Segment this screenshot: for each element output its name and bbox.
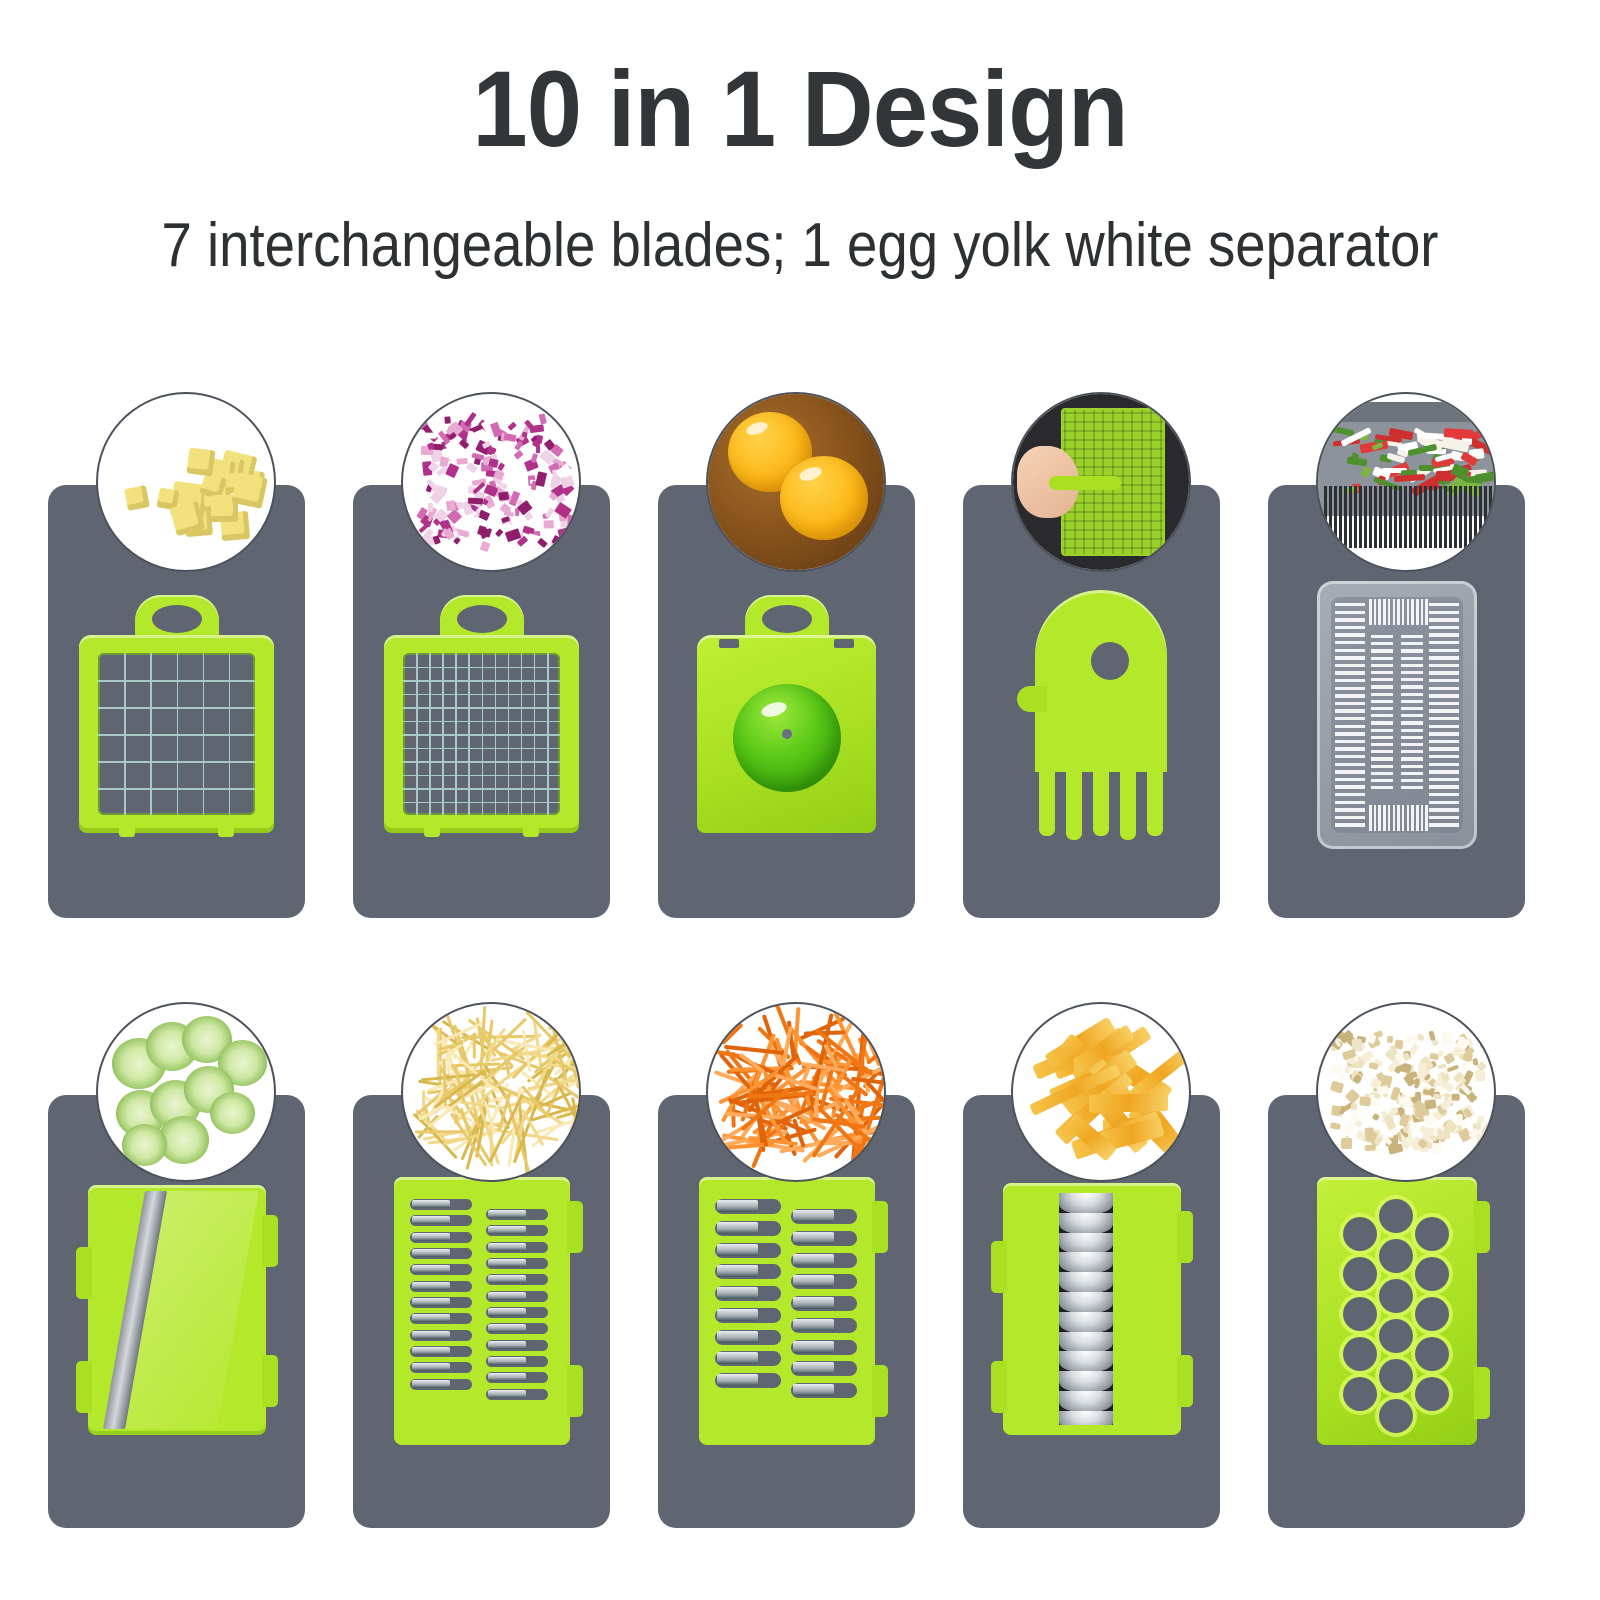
julienne-tooth-c1-4 bbox=[793, 1297, 834, 1309]
slot-mid-l-7 bbox=[1371, 685, 1393, 688]
slot-mid-r-9 bbox=[1401, 700, 1423, 703]
slot-right-23 bbox=[1429, 778, 1459, 781]
slot-bottom-6 bbox=[1397, 805, 1400, 831]
julienne-tooth-c1-0 bbox=[793, 1210, 834, 1222]
slot-mid-r-8 bbox=[1401, 693, 1423, 696]
bubble-minced-garlic bbox=[1316, 1002, 1496, 1182]
slot-bottom-3 bbox=[1383, 805, 1386, 831]
slot-top-11 bbox=[1421, 599, 1424, 625]
slot-mid-l-9 bbox=[1371, 700, 1393, 703]
comb-line-24 bbox=[1444, 486, 1447, 548]
ridge-v-8 bbox=[1141, 410, 1143, 554]
onion-dice-74 bbox=[544, 507, 554, 519]
slot-bottom-9 bbox=[1411, 805, 1414, 831]
onion-dice-40 bbox=[478, 509, 491, 520]
wave-crinkle-cutter-blade bbox=[1003, 1183, 1181, 1435]
comb-line-23 bbox=[1439, 486, 1442, 548]
veg-strip-66 bbox=[1444, 428, 1474, 439]
slot-right-18 bbox=[1429, 740, 1459, 743]
julienne-tooth-c1-8 bbox=[793, 1384, 834, 1396]
comb-hole bbox=[1091, 642, 1129, 680]
slot-mid-r-6 bbox=[1401, 678, 1423, 681]
slot-mid-l-18 bbox=[1371, 765, 1393, 768]
slot-mid-r-7 bbox=[1401, 685, 1423, 688]
gridline-h bbox=[403, 802, 560, 804]
garlic-bit-62 bbox=[1440, 1030, 1453, 1046]
slot-left-5 bbox=[1335, 641, 1365, 644]
julienne-tooth-c0-4 bbox=[717, 1287, 758, 1299]
julienne-tooth-c1-2 bbox=[488, 1243, 526, 1251]
garlic-bit-180 bbox=[1424, 1099, 1436, 1109]
slot-bottom-8 bbox=[1407, 805, 1410, 831]
slot-right-10 bbox=[1429, 679, 1459, 682]
gridline-v bbox=[521, 653, 523, 815]
grater-hole-1 bbox=[1343, 1217, 1377, 1251]
wave-tooth-5 bbox=[1059, 1292, 1113, 1314]
wave-tooth-6 bbox=[1059, 1312, 1113, 1334]
slot-mid-l-17 bbox=[1371, 757, 1393, 760]
comb-line-29 bbox=[1469, 486, 1472, 548]
gridline-v bbox=[229, 653, 231, 815]
garlic-bit-179 bbox=[1457, 1113, 1464, 1123]
julienne-tooth-c0-5 bbox=[717, 1309, 758, 1321]
crinkle-steel-blade bbox=[1059, 1193, 1113, 1425]
slot-mid-r-11 bbox=[1401, 714, 1423, 717]
onion-dice-14 bbox=[514, 450, 523, 459]
comb-line-9 bbox=[1369, 486, 1372, 548]
grater-hole-6 bbox=[1379, 1199, 1413, 1233]
fine-julienne-blade bbox=[394, 1177, 570, 1445]
garlic-bit-168 bbox=[1480, 1034, 1487, 1047]
garlic-bit-197 bbox=[1341, 1138, 1352, 1149]
onion-dice-16 bbox=[480, 541, 490, 552]
julienne-tooth-c0-6 bbox=[412, 1298, 450, 1306]
garlic-bit-231 bbox=[1388, 1143, 1403, 1154]
onion-dice-108 bbox=[445, 500, 455, 511]
bubble-potato-julienne bbox=[401, 1002, 581, 1182]
slot-mid-l-1 bbox=[1371, 642, 1393, 645]
slot-bottom-5 bbox=[1393, 805, 1396, 831]
ridge-v-7 bbox=[1131, 410, 1133, 554]
garlic-bit-229 bbox=[1438, 1050, 1444, 1056]
comb-prong-2 bbox=[1066, 762, 1082, 840]
tray-rim-back bbox=[1318, 402, 1494, 422]
comb-line-1 bbox=[1329, 486, 1332, 548]
garlic-bit-123 bbox=[1339, 1072, 1346, 1080]
julienne-tooth-c0-4 bbox=[412, 1265, 450, 1273]
slot-right-2 bbox=[1429, 618, 1459, 621]
notch-left bbox=[719, 639, 739, 648]
slot-bottom-1 bbox=[1374, 805, 1377, 831]
slot-mid-r-19 bbox=[1401, 772, 1423, 775]
slot-mid-l-11 bbox=[1371, 714, 1393, 717]
comb-line-30 bbox=[1474, 486, 1477, 548]
comb-line-21 bbox=[1429, 486, 1432, 548]
slot-mid-l-4 bbox=[1371, 664, 1393, 667]
foot-left bbox=[119, 825, 135, 837]
slot-mid-r-14 bbox=[1401, 736, 1423, 739]
julienne-tooth-c1-8 bbox=[488, 1341, 526, 1349]
slot-right-13 bbox=[1429, 702, 1459, 705]
slot-left-10 bbox=[1335, 679, 1365, 682]
grater-hole-13 bbox=[1415, 1257, 1449, 1291]
wave-tooth-1 bbox=[1059, 1213, 1113, 1235]
grater-hole-5 bbox=[1343, 1377, 1377, 1411]
comb-line-5 bbox=[1349, 486, 1352, 548]
slot-right-5 bbox=[1429, 641, 1459, 644]
tab-left-upper bbox=[991, 1241, 1007, 1293]
julienne-tooth-c0-7 bbox=[412, 1314, 450, 1322]
slot-right-11 bbox=[1429, 687, 1459, 690]
separator-plate bbox=[697, 635, 876, 833]
comb-line-27 bbox=[1459, 486, 1462, 548]
slot-mid-r-12 bbox=[1401, 721, 1423, 724]
grater-hole-4 bbox=[1343, 1337, 1377, 1371]
gridline-v bbox=[495, 653, 497, 815]
julienne-tooth-c1-6 bbox=[488, 1308, 526, 1316]
basket-slot-grid bbox=[1331, 597, 1463, 833]
comb-line-33 bbox=[1489, 486, 1492, 548]
slot-left-12 bbox=[1335, 694, 1365, 697]
slot-mid-l-21 bbox=[1371, 786, 1393, 789]
slot-mid-l-19 bbox=[1371, 772, 1393, 775]
comb-prong-1 bbox=[1039, 762, 1055, 836]
comb-line-12 bbox=[1384, 486, 1387, 548]
gridline-h bbox=[98, 734, 255, 736]
slot-mid-r-10 bbox=[1401, 707, 1423, 710]
comb-prong-3 bbox=[1093, 762, 1109, 836]
bubble-crinkle-fries bbox=[1011, 1002, 1191, 1182]
garlic-bit-166 bbox=[1381, 1075, 1393, 1086]
garlic-bit-172 bbox=[1365, 1144, 1376, 1151]
julienne-tooth-c1-10 bbox=[488, 1373, 526, 1381]
blade-grid-coarse bbox=[98, 653, 255, 815]
garlic-bit-219 bbox=[1417, 1062, 1427, 1070]
comb-line-20 bbox=[1424, 486, 1427, 548]
gridline-h bbox=[98, 761, 255, 763]
comb-line-11 bbox=[1379, 486, 1382, 548]
julienne-tooth-c0-3 bbox=[717, 1265, 758, 1277]
slot-left-16 bbox=[1335, 725, 1365, 728]
slot-mid-l-20 bbox=[1371, 779, 1393, 782]
gridline-h bbox=[403, 734, 560, 736]
julienne-tooth-c1-0 bbox=[488, 1210, 526, 1218]
foot-right bbox=[523, 825, 539, 837]
onion-dice-32 bbox=[495, 529, 503, 537]
julienne-tooth-c1-6 bbox=[793, 1341, 834, 1353]
comb-line-32 bbox=[1484, 486, 1487, 548]
gridline-h bbox=[403, 788, 560, 790]
bubble-hand-with-blade bbox=[1011, 392, 1191, 572]
slot-top-3 bbox=[1383, 599, 1386, 625]
julienne-tooth-c0-6 bbox=[717, 1331, 758, 1343]
slot-left-3 bbox=[1335, 626, 1365, 629]
grater-hole-9 bbox=[1379, 1319, 1413, 1353]
wave-tooth-11 bbox=[1059, 1411, 1113, 1425]
slot-right-17 bbox=[1429, 732, 1459, 735]
slot-left-9 bbox=[1335, 671, 1365, 674]
noodle-shred-139 bbox=[415, 1129, 464, 1133]
grater-hole-11 bbox=[1379, 1399, 1413, 1433]
tab-right-upper bbox=[872, 1201, 888, 1253]
slot-mid-r-2 bbox=[1401, 649, 1423, 652]
comb-line-10 bbox=[1374, 486, 1377, 548]
handle-hole bbox=[762, 605, 812, 633]
slot-top-9 bbox=[1411, 599, 1414, 625]
slot-mid-l-0 bbox=[1371, 635, 1393, 638]
slot-left-11 bbox=[1335, 687, 1365, 690]
slot-mid-r-15 bbox=[1401, 743, 1423, 746]
slot-right-19 bbox=[1429, 747, 1459, 750]
gridline-h bbox=[403, 761, 560, 763]
slot-right-29 bbox=[1429, 823, 1459, 826]
blade-grid-fine bbox=[403, 653, 560, 815]
onion-dice-181 bbox=[468, 497, 483, 504]
ridge-v-6 bbox=[1122, 410, 1124, 554]
comb-line-28 bbox=[1464, 486, 1467, 548]
bubble-potato-cubes bbox=[96, 392, 276, 572]
slot-mid-r-1 bbox=[1401, 642, 1423, 645]
slot-mid-l-5 bbox=[1371, 671, 1393, 674]
grater-hole-2 bbox=[1343, 1257, 1377, 1291]
wave-tooth-8 bbox=[1059, 1351, 1113, 1373]
slot-mid-r-16 bbox=[1401, 750, 1423, 753]
feature-card-grid bbox=[0, 0, 1600, 1600]
julienne-tooth-c1-1 bbox=[793, 1232, 834, 1244]
julienne-tooth-c0-1 bbox=[412, 1216, 450, 1224]
slot-top-6 bbox=[1397, 599, 1400, 625]
small-dice-blade bbox=[384, 595, 579, 833]
slot-right-0 bbox=[1429, 603, 1459, 606]
onion-dice-169 bbox=[539, 414, 547, 425]
gridline-v bbox=[547, 653, 549, 815]
slot-top-2 bbox=[1378, 599, 1381, 625]
garlic-bit-130 bbox=[1432, 1142, 1443, 1153]
infographic-page: 10 in 1 Design 7 interchangeable blades;… bbox=[0, 0, 1600, 1600]
grater-hole-8 bbox=[1379, 1279, 1413, 1313]
garlic-bit-216 bbox=[1330, 1081, 1344, 1094]
slot-mid-l-3 bbox=[1371, 657, 1393, 660]
julienne-tooth-c1-1 bbox=[488, 1226, 526, 1234]
tab-left-lower bbox=[76, 1361, 92, 1413]
slot-left-25 bbox=[1335, 793, 1365, 796]
onion-dice-133 bbox=[538, 538, 549, 548]
slot-mid-r-5 bbox=[1401, 671, 1423, 674]
tab-right-lower bbox=[1474, 1367, 1490, 1419]
slot-mid-l-10 bbox=[1371, 707, 1393, 710]
onion-dice-167 bbox=[422, 433, 437, 439]
slot-right-25 bbox=[1429, 793, 1459, 796]
garlic-bit-192 bbox=[1351, 1103, 1357, 1111]
handle-hole bbox=[152, 605, 202, 633]
tab-right-lower bbox=[262, 1355, 278, 1407]
slot-left-2 bbox=[1335, 618, 1365, 621]
slot-left-22 bbox=[1335, 770, 1365, 773]
slot-right-14 bbox=[1429, 709, 1459, 712]
bubble-cucumber-slices bbox=[96, 1002, 276, 1182]
slot-left-18 bbox=[1335, 740, 1365, 743]
comb-line-6 bbox=[1354, 486, 1357, 548]
wave-tooth-0 bbox=[1059, 1193, 1113, 1215]
potato-cube-11 bbox=[187, 448, 216, 477]
slot-top-5 bbox=[1393, 599, 1396, 625]
julienne-tooth-c0-2 bbox=[717, 1244, 758, 1256]
slot-bottom-7 bbox=[1402, 805, 1405, 831]
slot-left-27 bbox=[1335, 808, 1365, 811]
comb-line-13 bbox=[1389, 486, 1392, 548]
comb-prong-5 bbox=[1147, 762, 1163, 836]
grater-hole-12 bbox=[1415, 1217, 1449, 1251]
sliced-vegetables-image bbox=[1318, 394, 1494, 570]
slot-mid-r-18 bbox=[1401, 765, 1423, 768]
crinkle-cut-fries-image bbox=[1013, 1004, 1189, 1180]
slot-left-1 bbox=[1335, 611, 1365, 614]
onion-dice-152 bbox=[444, 416, 451, 424]
julienne-tooth-c0-3 bbox=[412, 1249, 450, 1257]
wave-tooth-10 bbox=[1059, 1391, 1113, 1413]
garlic-bit-227 bbox=[1360, 1096, 1371, 1106]
slot-right-22 bbox=[1429, 770, 1459, 773]
grater-hole-14 bbox=[1415, 1297, 1449, 1331]
tab-left-upper bbox=[76, 1247, 92, 1299]
slot-right-15 bbox=[1429, 717, 1459, 720]
slot-bottom-0 bbox=[1369, 805, 1372, 831]
comb-line-2 bbox=[1334, 486, 1337, 548]
slot-left-28 bbox=[1335, 816, 1365, 819]
slot-mid-l-16 bbox=[1371, 750, 1393, 753]
slot-bottom-11 bbox=[1421, 805, 1424, 831]
slot-right-28 bbox=[1429, 816, 1459, 819]
julienne-tooth-c1-5 bbox=[793, 1319, 834, 1331]
coarse-julienne-blade bbox=[699, 1177, 875, 1445]
slot-top-10 bbox=[1416, 599, 1419, 625]
julienne-tooth-c0-8 bbox=[717, 1374, 758, 1386]
slot-top-0 bbox=[1369, 599, 1372, 625]
tab-right-upper bbox=[262, 1215, 278, 1267]
slot-left-7 bbox=[1335, 656, 1365, 659]
tab-right-upper bbox=[1177, 1211, 1193, 1263]
cleaning-comb-brush bbox=[1017, 590, 1167, 840]
slot-right-16 bbox=[1429, 725, 1459, 728]
slot-mid-l-15 bbox=[1371, 743, 1393, 746]
julienne-tooth-c1-4 bbox=[488, 1275, 526, 1283]
garlic-bit-74 bbox=[1428, 1031, 1436, 1042]
comb-line-19 bbox=[1419, 486, 1422, 548]
onion-dice-179 bbox=[536, 472, 548, 488]
cucumber-slices-image bbox=[98, 1004, 274, 1180]
slot-mid-l-2 bbox=[1371, 649, 1393, 652]
bubble-diced-onion bbox=[401, 392, 581, 572]
slot-left-15 bbox=[1335, 717, 1365, 720]
julienne-tooth-c0-11 bbox=[412, 1380, 450, 1388]
julienne-tooth-c1-9 bbox=[488, 1357, 526, 1365]
slot-right-21 bbox=[1429, 763, 1459, 766]
gridline-h bbox=[403, 748, 560, 750]
julienne-tooth-c0-0 bbox=[717, 1200, 758, 1212]
egg-yolk-white-separator bbox=[689, 595, 884, 833]
slot-mid-l-12 bbox=[1371, 721, 1393, 724]
garlic-bit-174 bbox=[1330, 1065, 1341, 1074]
slot-mid-l-8 bbox=[1371, 693, 1393, 696]
slot-mid-r-0 bbox=[1401, 635, 1423, 638]
grater-hole-7 bbox=[1379, 1239, 1413, 1273]
slot-mid-r-4 bbox=[1401, 664, 1423, 667]
slot-top-4 bbox=[1388, 599, 1391, 625]
slot-left-21 bbox=[1335, 763, 1365, 766]
carrot-shred-112 bbox=[861, 1115, 886, 1120]
foot-right bbox=[218, 825, 234, 837]
slot-bottom-12 bbox=[1425, 805, 1428, 831]
slot-right-26 bbox=[1429, 801, 1459, 804]
julienne-tooth-c0-5 bbox=[412, 1282, 450, 1290]
julienne-tooth-c0-9 bbox=[412, 1347, 450, 1355]
comb-line-17 bbox=[1409, 486, 1412, 548]
egg-yolks-image bbox=[708, 394, 884, 570]
garlic-bit-184 bbox=[1477, 1132, 1489, 1141]
carrot-julienne-image bbox=[708, 1004, 884, 1180]
comb-line-18 bbox=[1414, 486, 1417, 548]
tab-right-lower bbox=[567, 1365, 583, 1417]
tab-right-upper bbox=[567, 1201, 583, 1253]
grater-hole-10 bbox=[1379, 1359, 1413, 1393]
julienne-tooth-c1-5 bbox=[488, 1292, 526, 1300]
garlic-bit-194 bbox=[1372, 1113, 1380, 1121]
large-dice-blade bbox=[79, 595, 274, 833]
slot-top-7 bbox=[1402, 599, 1405, 625]
onion-dice-78 bbox=[502, 476, 513, 484]
hand-holding-blade-image bbox=[1013, 394, 1189, 570]
grater-hole-15 bbox=[1415, 1337, 1449, 1371]
slot-left-20 bbox=[1335, 755, 1365, 758]
julienne-tooth-c1-7 bbox=[793, 1362, 834, 1374]
onion-dice-121 bbox=[544, 519, 554, 528]
handle-hole bbox=[457, 605, 507, 633]
onion-dice-156 bbox=[556, 507, 569, 513]
gridline-v bbox=[534, 653, 536, 815]
slot-mid-l-6 bbox=[1371, 678, 1393, 681]
slot-right-27 bbox=[1429, 808, 1459, 811]
slot-mid-l-14 bbox=[1371, 736, 1393, 739]
slot-mid-r-17 bbox=[1401, 757, 1423, 760]
foot-left bbox=[424, 825, 440, 837]
slot-left-14 bbox=[1335, 709, 1365, 712]
slot-left-23 bbox=[1335, 778, 1365, 781]
slot-right-20 bbox=[1429, 755, 1459, 758]
comb-in-hand bbox=[1049, 476, 1121, 490]
slot-mid-r-3 bbox=[1401, 657, 1423, 660]
julienne-tooth-c0-7 bbox=[717, 1352, 758, 1364]
slot-left-24 bbox=[1335, 785, 1365, 788]
julienne-tooth-c1-7 bbox=[488, 1324, 526, 1332]
onion-dice-63 bbox=[564, 537, 578, 548]
garlic-bit-201 bbox=[1399, 1097, 1409, 1105]
slot-right-3 bbox=[1429, 626, 1459, 629]
comb-line-22 bbox=[1434, 486, 1437, 548]
tab-right-lower bbox=[1177, 1355, 1193, 1407]
comb-line-4 bbox=[1344, 486, 1347, 548]
wave-tooth-4 bbox=[1059, 1272, 1113, 1294]
comb-line-31 bbox=[1479, 486, 1482, 548]
garlic-bit-228 bbox=[1414, 1078, 1419, 1086]
julienne-tooth-c0-10 bbox=[412, 1363, 450, 1371]
slot-bottom-4 bbox=[1388, 805, 1391, 831]
julienne-tooth-c0-8 bbox=[412, 1331, 450, 1339]
cucumber-slice-9 bbox=[122, 1124, 167, 1166]
garlic-bit-83 bbox=[1387, 1036, 1394, 1043]
slot-mid-l-13 bbox=[1371, 729, 1393, 732]
slot-left-19 bbox=[1335, 747, 1365, 750]
comb-line-16 bbox=[1404, 486, 1407, 548]
